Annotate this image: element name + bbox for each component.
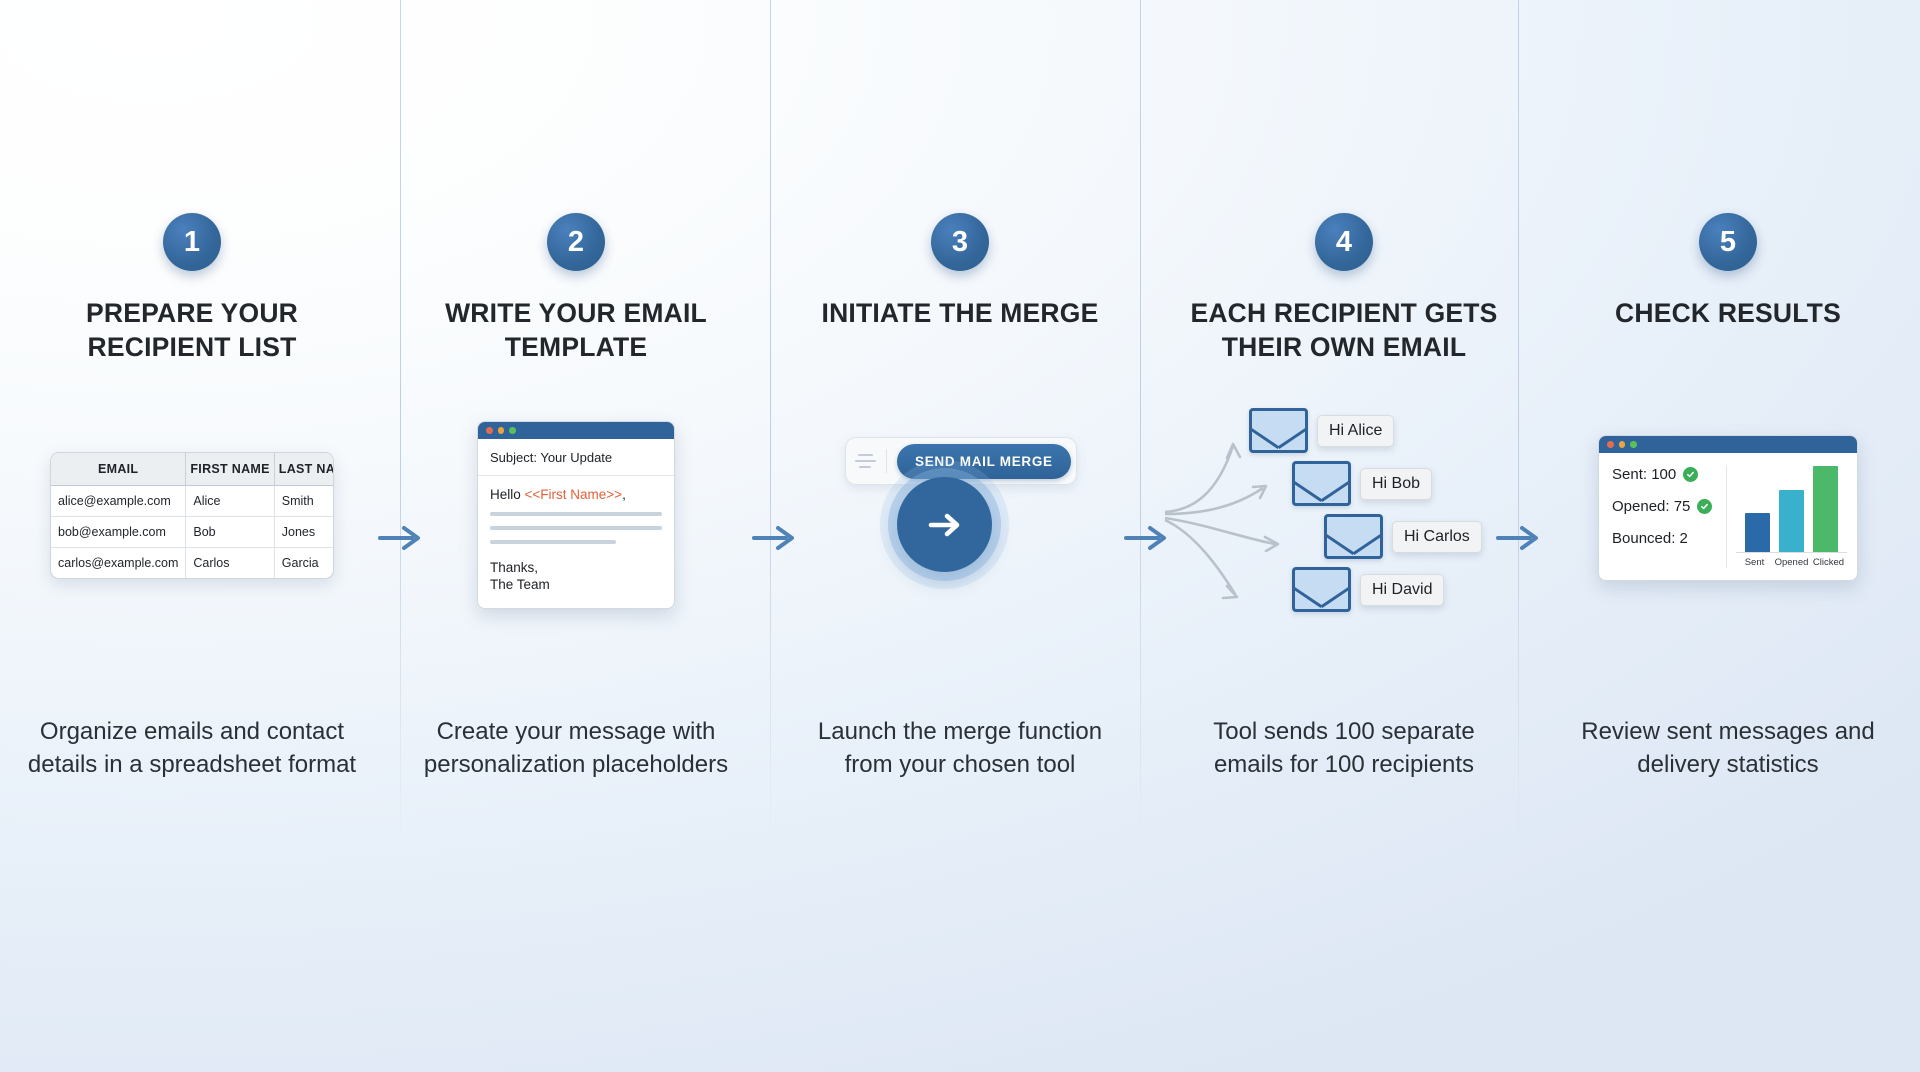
greeting-suffix: , xyxy=(622,487,626,502)
recipient-row: Hi Bob xyxy=(1292,461,1432,506)
body-text-line xyxy=(490,526,662,530)
envelope-icon xyxy=(1292,567,1351,612)
per-recipient-emails: Hi Alice Hi Bob Hi Carlos Hi David xyxy=(1179,408,1509,623)
step-number-badge-2: 2 xyxy=(547,213,605,271)
cell-last-name: Smith xyxy=(274,485,334,516)
bar-clicked xyxy=(1813,466,1838,552)
email-body[interactable]: Hello <<First Name>>, Thanks, The Team xyxy=(478,476,674,608)
step-number-badge-5: 5 xyxy=(1699,213,1757,271)
recipient-spreadsheet[interactable]: EMAIL FIRST NAME LAST NAME alice@example… xyxy=(50,452,334,579)
stat-sent-label: Sent: 100 xyxy=(1612,466,1676,483)
step-title-2: WRITE YOUR EMAIL TEMPLATE xyxy=(411,297,741,364)
step-title-5: CHECK RESULTS xyxy=(1615,297,1841,331)
step-visual-2: Subject: Your Update Hello <<First Name>… xyxy=(384,400,768,630)
recipient-row: Hi Carlos xyxy=(1324,514,1482,559)
column-header-first-name: FIRST NAME xyxy=(186,453,274,486)
recipient-row: Hi Alice xyxy=(1249,408,1394,453)
step-column-3: 3 INITIATE THE MERGE SEND MAIL MERGE xyxy=(768,0,1152,1072)
step-visual-4: Hi Alice Hi Bob Hi Carlos Hi David xyxy=(1152,408,1536,623)
stat-sent: Sent: 100 xyxy=(1612,466,1722,483)
step-column-4: 4 EACH RECIPIENT GETS THEIR OWN EMAIL Hi… xyxy=(1152,0,1536,1072)
signoff-line-2: The Team xyxy=(490,576,662,593)
delivery-bar-chart: Sent Opened Clicked xyxy=(1736,466,1847,568)
stat-bounced: Bounced: 2 xyxy=(1612,530,1722,547)
check-circle-icon xyxy=(1683,467,1698,482)
cell-last-name: Jones xyxy=(274,516,334,547)
merge-placeholder-token: <<First Name>> xyxy=(525,487,623,502)
step-title-4: EACH RECIPIENT GETS THEIR OWN EMAIL xyxy=(1179,297,1509,364)
greeting-bubble: Hi Bob xyxy=(1360,468,1432,500)
check-circle-icon xyxy=(1697,499,1712,514)
window-titlebar xyxy=(478,422,674,439)
launch-merge-button[interactable] xyxy=(897,477,992,572)
maximize-dot-icon[interactable] xyxy=(1630,441,1637,448)
stat-opened-label: Opened: 75 xyxy=(1612,498,1690,515)
envelope-icon xyxy=(1324,514,1383,559)
close-dot-icon[interactable] xyxy=(486,427,493,434)
step-number-badge-4: 4 xyxy=(1315,213,1373,271)
column-header-last-name: LAST NAME xyxy=(274,453,334,486)
minimize-dot-icon[interactable] xyxy=(498,427,505,434)
body-text-line xyxy=(490,540,616,544)
minimize-dot-icon[interactable] xyxy=(1619,441,1626,448)
greeting-bubble: Hi Alice xyxy=(1317,415,1394,447)
results-body: Sent: 100 Opened: 75 Bounc xyxy=(1599,453,1857,580)
signoff-line-1: Thanks, xyxy=(490,559,662,576)
cell-email: bob@example.com xyxy=(51,516,186,547)
table-header-row: EMAIL FIRST NAME LAST NAME xyxy=(51,453,334,486)
step-visual-3: SEND MAIL MERGE xyxy=(768,390,1152,640)
cell-first-name: Carlos xyxy=(186,547,274,578)
cell-email: alice@example.com xyxy=(51,485,186,516)
step-title-3: INITIATE THE MERGE xyxy=(822,297,1099,331)
email-signoff: Thanks, The Team xyxy=(490,559,662,593)
x-tick-sent: Sent xyxy=(1736,557,1773,568)
email-subject-field[interactable]: Subject: Your Update xyxy=(478,439,674,476)
step-column-2: 2 WRITE YOUR EMAIL TEMPLATE Subject: You… xyxy=(384,0,768,1072)
cell-first-name: Bob xyxy=(186,516,274,547)
step-visual-1: EMAIL FIRST NAME LAST NAME alice@example… xyxy=(0,400,384,630)
maximize-dot-icon[interactable] xyxy=(509,427,516,434)
step-caption-4: Tool sends 100 separate emails for 100 r… xyxy=(1152,715,1536,781)
step-title-1: PREPARE YOUR RECIPIENT LIST xyxy=(27,297,357,364)
step-column-1: 1 PREPARE YOUR RECIPIENT LIST EMAIL FIRS… xyxy=(0,0,384,1072)
send-mail-merge-button[interactable]: SEND MAIL MERGE xyxy=(897,444,1071,479)
envelope-icon xyxy=(1292,461,1351,506)
step-caption-5: Review sent messages and delivery statis… xyxy=(1536,715,1920,781)
delivery-stats-list: Sent: 100 Opened: 75 Bounc xyxy=(1612,466,1722,568)
step-caption-2: Create your message with personalization… xyxy=(384,715,768,781)
stat-bounced-label: Bounced: 2 xyxy=(1612,530,1688,547)
greeting-prefix: Hello xyxy=(490,487,525,502)
chart-plot-area xyxy=(1736,466,1847,553)
window-titlebar xyxy=(1599,436,1857,453)
menu-lines-icon[interactable] xyxy=(846,449,887,473)
step-column-5: 5 CHECK RESULTS Sent: 100 xyxy=(1536,0,1920,1072)
table-row[interactable]: bob@example.com Bob Jones xyxy=(51,516,334,547)
recipient-row: Hi David xyxy=(1292,567,1444,612)
email-greeting: Hello <<First Name>>, xyxy=(490,487,662,502)
x-tick-opened: Opened xyxy=(1773,557,1810,568)
stat-opened: Opened: 75 xyxy=(1612,498,1722,515)
chart-x-tick-labels: Sent Opened Clicked xyxy=(1736,553,1847,568)
envelope-icon xyxy=(1249,408,1308,453)
step-number-badge-3: 3 xyxy=(931,213,989,271)
cell-email: carlos@example.com xyxy=(51,547,186,578)
cell-last-name: Garcia xyxy=(274,547,334,578)
results-window[interactable]: Sent: 100 Opened: 75 Bounc xyxy=(1598,435,1858,581)
column-header-email: EMAIL xyxy=(51,453,186,486)
step-visual-5: Sent: 100 Opened: 75 Bounc xyxy=(1536,435,1920,635)
table-row[interactable]: alice@example.com Alice Smith xyxy=(51,485,334,516)
body-text-line xyxy=(490,512,662,516)
step-number-badge-1: 1 xyxy=(163,213,221,271)
step-caption-3: Launch the merge function from your chos… xyxy=(768,715,1152,781)
cell-first-name: Alice xyxy=(186,485,274,516)
steps-row: 1 PREPARE YOUR RECIPIENT LIST EMAIL FIRS… xyxy=(0,0,1920,1072)
close-dot-icon[interactable] xyxy=(1607,441,1614,448)
merge-tool-mock: SEND MAIL MERGE xyxy=(845,415,1075,615)
bar-opened xyxy=(1779,490,1804,552)
bar-sent xyxy=(1745,513,1770,552)
step-caption-1: Organize emails and contact details in a… xyxy=(0,715,384,781)
table-row[interactable]: carlos@example.com Carlos Garcia xyxy=(51,547,334,578)
greeting-bubble: Hi Carlos xyxy=(1392,521,1482,553)
x-tick-clicked: Clicked xyxy=(1810,557,1847,568)
merge-toolbar: SEND MAIL MERGE xyxy=(845,437,1077,485)
arrow-right-icon xyxy=(920,500,970,550)
results-vertical-divider xyxy=(1726,466,1727,568)
greeting-bubble: Hi David xyxy=(1360,574,1444,606)
email-template-window[interactable]: Subject: Your Update Hello <<First Name>… xyxy=(477,421,675,609)
